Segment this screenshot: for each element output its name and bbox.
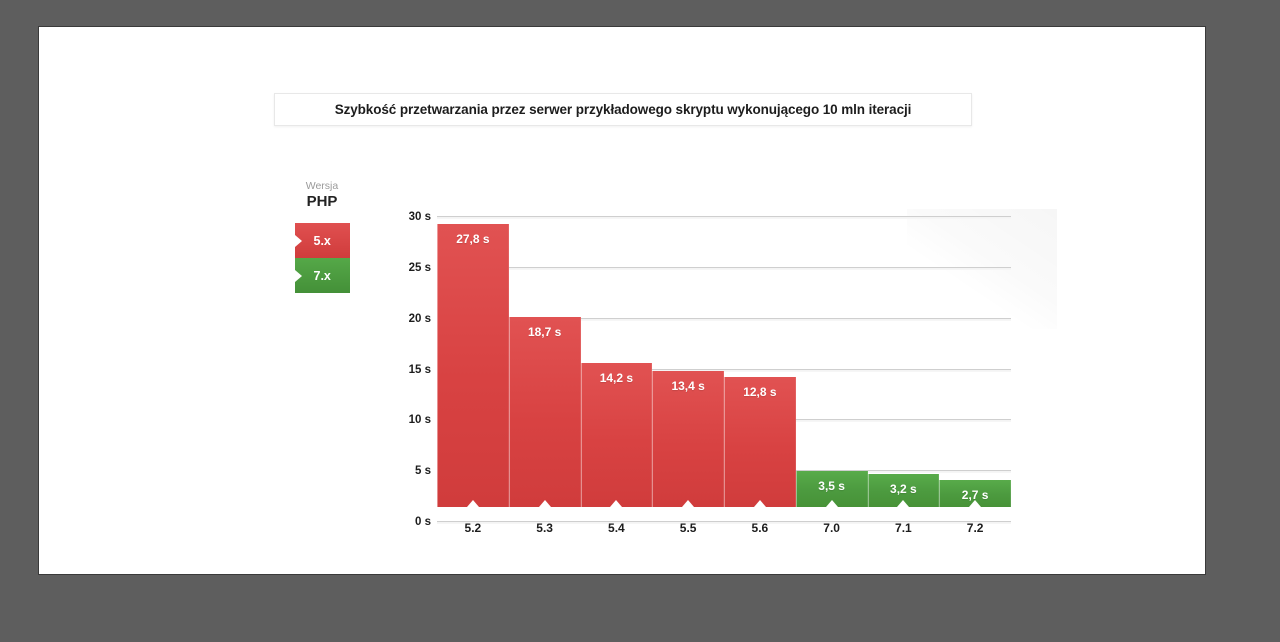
bar-notch-icon <box>682 500 694 507</box>
bar-series: 27,8 s18,7 s14,2 s13,4 s12,8 s3,5 s3,2 s… <box>437 202 1011 507</box>
bar-7.1[interactable]: 3,2 s <box>868 474 940 507</box>
y-axis-tick-label: 15 s <box>401 364 431 376</box>
x-axis-tick-5.2: 5.2 <box>437 510 509 542</box>
x-axis-tick-7.1: 7.1 <box>868 510 940 542</box>
legend-item-7.x[interactable]: 7.x <box>295 258 350 293</box>
bar-slot-7.1: 3,2 s <box>868 202 940 507</box>
bar-notch-icon <box>539 500 551 507</box>
bar-slot-5.5: 13,4 s <box>652 202 724 507</box>
bar-5.2[interactable]: 27,8 s <box>437 224 509 507</box>
x-axis-tick-5.6: 5.6 <box>724 510 796 542</box>
bar-slot-5.4: 14,2 s <box>581 202 653 507</box>
y-axis-tick-label: 10 s <box>401 414 431 426</box>
legend-arrow-icon <box>295 270 302 282</box>
bar-7.2[interactable]: 2,7 s <box>939 480 1011 507</box>
bar-value-label: 14,2 s <box>600 371 633 507</box>
legend-item-5.x[interactable]: 5.x <box>295 223 350 258</box>
bar-notch-icon <box>969 500 981 507</box>
bar-notch-icon <box>897 500 909 507</box>
bar-value-label: 12,8 s <box>743 385 776 507</box>
x-axis: 5.25.35.45.55.67.07.17.2 <box>437 510 1011 542</box>
y-axis-tick-label: 0 s <box>401 516 431 528</box>
bar-5.5[interactable]: 13,4 s <box>652 371 724 507</box>
y-axis: 0 s5 s10 s15 s20 s25 s30 s <box>401 182 431 522</box>
y-axis-tick-label: 30 s <box>401 211 431 223</box>
x-axis-tick-5.5: 5.5 <box>652 510 724 542</box>
y-axis-tick-label: 5 s <box>401 465 431 477</box>
bar-value-label: 13,4 s <box>671 379 704 507</box>
bar-slot-5.2: 27,8 s <box>437 202 509 507</box>
y-axis-tick-label: 20 s <box>401 313 431 325</box>
chart-legend: Wersja PHP 5.x7.x <box>275 179 369 293</box>
bar-slot-5.3: 18,7 s <box>509 202 581 507</box>
bar-notch-icon <box>467 500 479 507</box>
bar-7.0[interactable]: 3,5 s <box>796 471 868 507</box>
bar-slot-5.6: 12,8 s <box>724 202 796 507</box>
legend-kicker: Wersja <box>275 179 369 193</box>
x-axis-tick-5.3: 5.3 <box>509 510 581 542</box>
bar-notch-icon <box>610 500 622 507</box>
bar-5.3[interactable]: 18,7 s <box>509 317 581 507</box>
bar-5.4[interactable]: 14,2 s <box>581 363 653 507</box>
bar-slot-7.0: 3,5 s <box>796 202 868 507</box>
bar-slot-7.2: 2,7 s <box>939 202 1011 507</box>
x-axis-tick-7.2: 7.2 <box>939 510 1011 542</box>
chart-plot-area: 0 s5 s10 s15 s20 s25 s30 s 27,8 s18,7 s1… <box>401 182 1011 542</box>
x-axis-tick-5.4: 5.4 <box>581 510 653 542</box>
legend-item-list: 5.x7.x <box>275 223 369 293</box>
legend-heading: PHP <box>275 193 369 211</box>
bar-value-label: 18,7 s <box>528 325 561 507</box>
page-title: Szybkość przetwarzania przez serwer przy… <box>335 102 912 117</box>
chart-title-box: Szybkość przetwarzania przez serwer przy… <box>274 93 972 126</box>
bar-5.6[interactable]: 12,8 s <box>724 377 796 507</box>
legend-arrow-icon <box>295 235 302 247</box>
bar-notch-icon <box>754 500 766 507</box>
bar-value-label: 27,8 s <box>456 232 489 507</box>
y-axis-tick-label: 25 s <box>401 262 431 274</box>
bar-notch-icon <box>826 500 838 507</box>
slide-page: Szybkość przetwarzania przez serwer przy… <box>38 26 1206 575</box>
x-axis-tick-7.0: 7.0 <box>796 510 868 542</box>
